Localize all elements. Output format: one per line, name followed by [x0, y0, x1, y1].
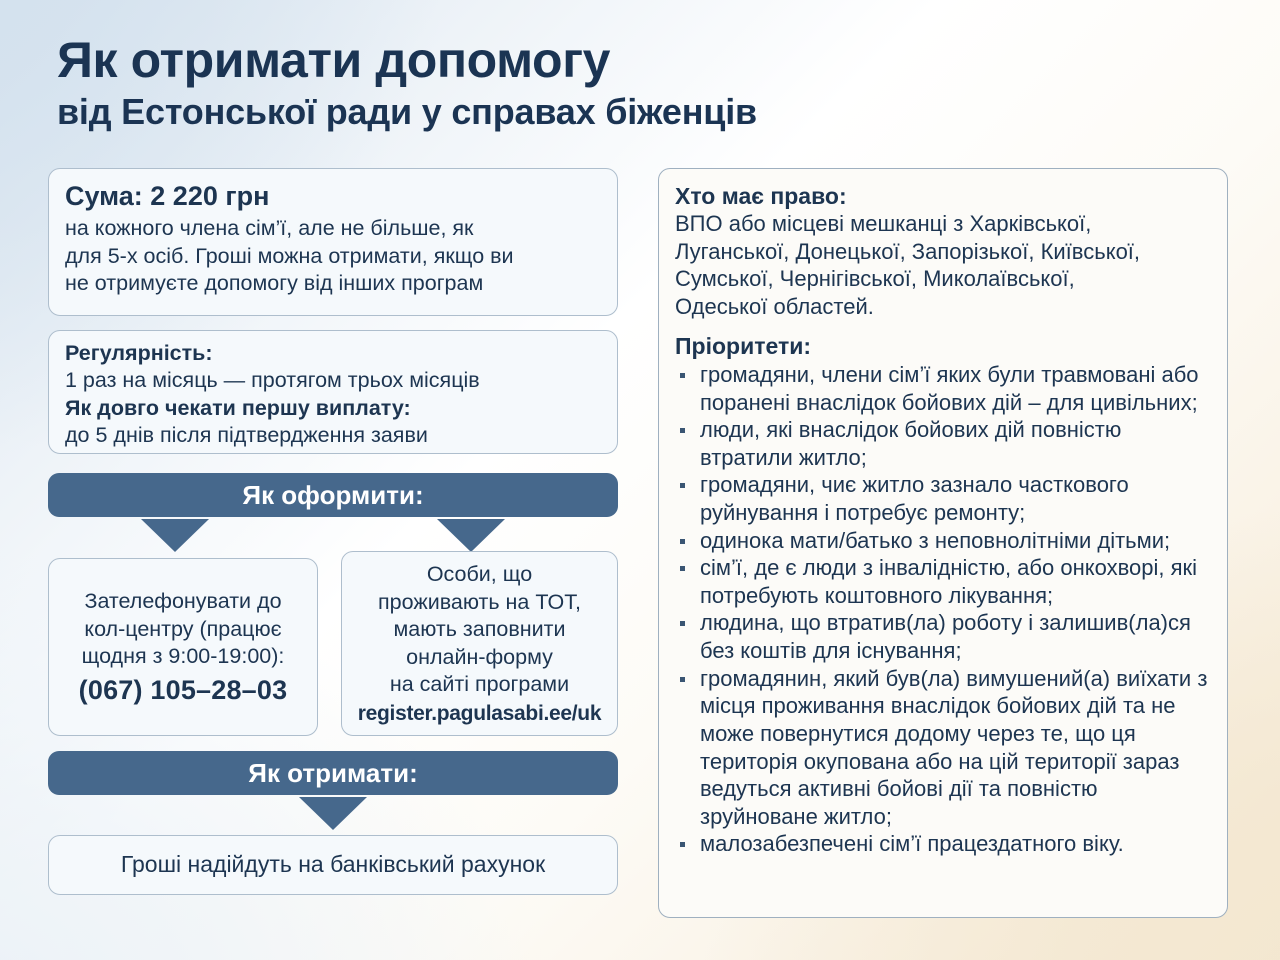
square-bullet-icon: [680, 677, 685, 682]
eligibility-body-line-2: Луганської, Донецької, Запорізької, Київ…: [675, 238, 1211, 266]
call-center-line-2: кол-центру (працює: [84, 616, 281, 644]
eligibility-body-line-1: ВПО або місцеві мешканці з Харківської,: [675, 210, 1211, 238]
arrow-down-icon-bottom: [299, 797, 367, 830]
regularity-value: 1 раз на місяць — протягом трьох місяців: [65, 367, 601, 394]
list-item: сім’ї, де є люди з інвалідністю, або онк…: [675, 554, 1211, 609]
registration-url-link[interactable]: register.pagulasabi.ee/uk: [358, 702, 601, 726]
bank-transfer-card: Гроші надійдуть на банківський рахунок: [48, 835, 618, 895]
how-to-apply-label: Як оформити:: [242, 480, 423, 511]
square-bullet-icon: [680, 621, 685, 626]
infographic-page: Як отримати допомогу від Естонської ради…: [0, 0, 1280, 960]
eligibility-body-line-4: Одеської областей.: [675, 293, 1211, 321]
priorities-heading: Пріоритети:: [675, 332, 1211, 360]
list-item: людина, що втратив(ла) роботу і залишив(…: [675, 609, 1211, 664]
call-center-line-3: щодня з 9:00-19:00):: [82, 643, 285, 671]
list-item-label: люди, які внаслідок бойових дій повністю…: [700, 417, 1121, 470]
list-item: громадяни, члени сім’ї яких були травмов…: [675, 361, 1211, 416]
list-item: одинока мати/батько з неповнолітніми діт…: [675, 527, 1211, 555]
bank-transfer-text: Гроші надійдуть на банківський рахунок: [121, 851, 545, 879]
amount-card: Сума: 2 220 грн на кожного члена сім’ї, …: [48, 168, 618, 316]
regularity-card: Регулярність: 1 раз на місяць — протягом…: [48, 330, 618, 454]
list-item-label: малозабезпечені сім’ї працездатного віку…: [700, 831, 1124, 856]
online-form-card: Особи, що проживають на ТОТ, мають запов…: [341, 551, 618, 736]
how-to-apply-banner: Як оформити:: [48, 473, 618, 517]
square-bullet-icon: [680, 539, 685, 544]
first-payment-value: до 5 днів після підтвердження заяви: [65, 422, 601, 449]
first-payment-heading: Як довго чекати першу виплату:: [65, 395, 601, 422]
square-bullet-icon: [680, 428, 685, 433]
list-item-label: громадяни, члени сім’ї яких були травмов…: [700, 362, 1199, 415]
list-item: громадяни, чиє житло зазнало часткового …: [675, 471, 1211, 526]
online-form-line-4: онлайн-форму: [406, 644, 553, 672]
eligibility-card: Хто має право: ВПО або місцеві мешканці …: [658, 168, 1228, 918]
square-bullet-icon: [680, 373, 685, 378]
how-to-receive-label: Як отримати:: [248, 758, 417, 789]
list-item-label: людина, що втратив(ла) роботу і залишив(…: [700, 610, 1191, 663]
list-item-label: громадяни, чиє житло зазнало часткового …: [700, 472, 1129, 525]
page-title: Як отримати допомогу: [57, 34, 1057, 87]
eligibility-heading: Хто має право:: [675, 182, 1211, 210]
page-subtitle: від Естонської ради у справах біженців: [57, 91, 1057, 132]
list-item-label: одинока мати/батько з неповнолітніми діт…: [700, 528, 1170, 553]
list-item-label: громадянин, який був(ла) вимушений(а) ви…: [700, 666, 1207, 829]
amount-body-line-2: для 5-х осіб. Гроші можна отримати, якщо…: [65, 243, 601, 271]
square-bullet-icon: [680, 842, 685, 847]
amount-body-line-3: не отримуєте допомогу від інших програм: [65, 270, 601, 298]
list-item-label: сім’ї, де є люди з інвалідністю, або онк…: [700, 555, 1197, 608]
call-center-line-1: Зателефонувати до: [84, 588, 281, 616]
list-item: люди, які внаслідок бойових дій повністю…: [675, 416, 1211, 471]
arrow-down-icon-right: [437, 519, 505, 552]
call-center-card: Зателефонувати до кол-центру (працює щод…: [48, 558, 318, 736]
page-header: Як отримати допомогу від Естонської ради…: [57, 34, 1057, 132]
square-bullet-icon: [680, 483, 685, 488]
call-center-phone-number[interactable]: (067) 105–28–03: [79, 675, 288, 706]
list-item: малозабезпечені сім’ї працездатного віку…: [675, 830, 1211, 858]
amount-body-line-1: на кожного члена сім’ї, але не більше, я…: [65, 215, 601, 243]
square-bullet-icon: [680, 566, 685, 571]
how-to-receive-banner: Як отримати:: [48, 751, 618, 795]
online-form-line-2: проживають на ТОТ,: [378, 589, 581, 617]
online-form-line-1: Особи, що: [427, 561, 532, 589]
online-form-line-3: мають заповнити: [394, 616, 566, 644]
amount-title: Сума: 2 220 грн: [65, 181, 601, 212]
eligibility-body-line-3: Сумської, Чернігівської, Миколаївської,: [675, 265, 1211, 293]
arrow-down-icon-left: [141, 519, 209, 552]
regularity-heading: Регулярність:: [65, 340, 601, 367]
online-form-line-5: на сайті програми: [390, 671, 569, 699]
list-item: громадянин, який був(ла) вимушений(а) ви…: [675, 665, 1211, 831]
priorities-list: громадяни, члени сім’ї яких були травмов…: [675, 361, 1211, 858]
